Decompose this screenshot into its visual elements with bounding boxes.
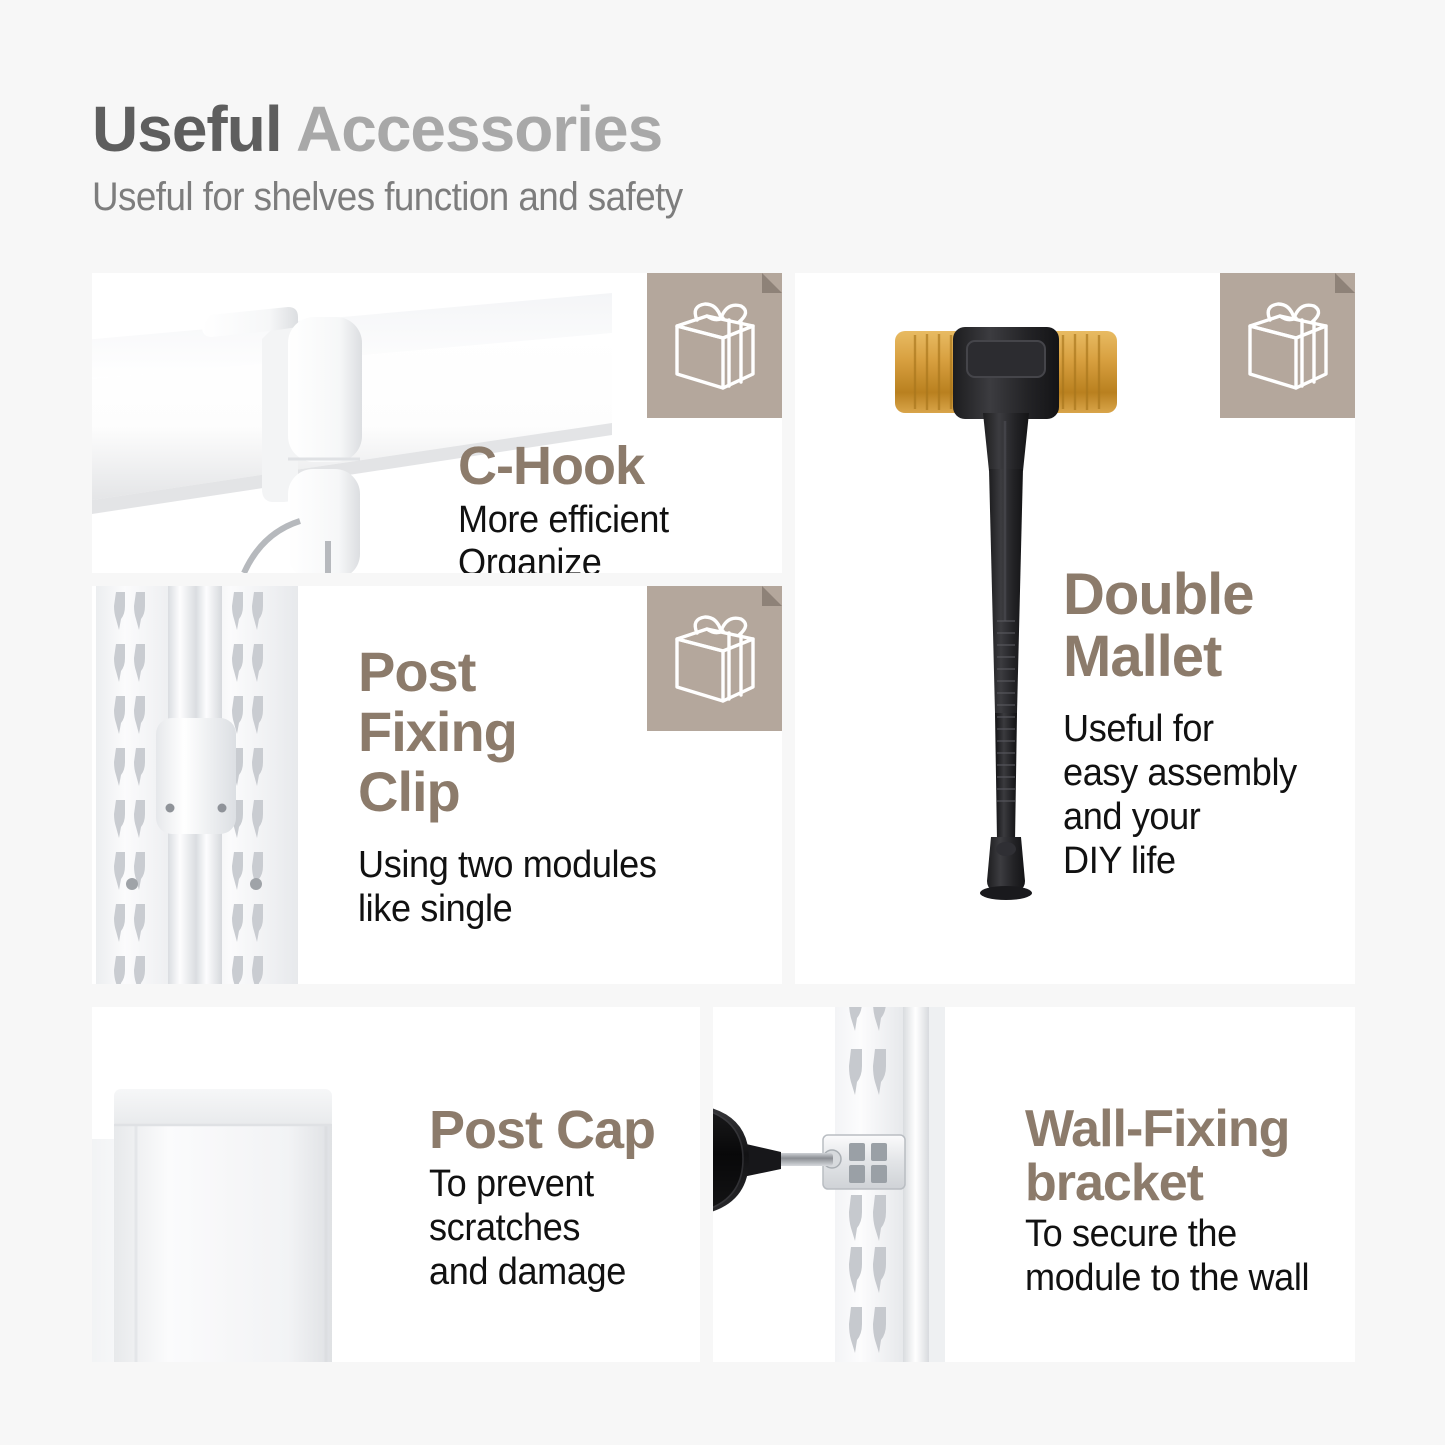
card-double-mallet-description-line-4: DIY life bbox=[1063, 840, 1176, 883]
page-title: Useful Accessories bbox=[92, 96, 1362, 163]
card-wall-fixing-bracket-heading-line-1: Wall-Fixing bbox=[1025, 1103, 1289, 1155]
card-post-fixing-clip-description-line-1: Using two modules bbox=[358, 844, 657, 887]
card-post-fixing-clip-heading-line-2: Fixing bbox=[358, 704, 517, 760]
badge-corner-fold bbox=[762, 586, 782, 606]
gift-badge bbox=[1220, 273, 1355, 418]
gift-box-icon bbox=[667, 607, 763, 711]
page-subtitle: Useful for shelves function and safety bbox=[92, 175, 1260, 220]
card-post-fixing-clip-heading-line-1: Post bbox=[358, 644, 475, 700]
gift-badge bbox=[647, 586, 782, 731]
card-double-mallet-heading-line-1: Double bbox=[1063, 566, 1254, 624]
card-post-fixing-clip[interactable]: Post Fixing Clip Using two modules like … bbox=[92, 586, 782, 984]
card-post-cap-description-line-3: and damage bbox=[429, 1251, 626, 1294]
card-wall-fixing-bracket-description-line-1: To secure the bbox=[1025, 1213, 1237, 1256]
badge-corner-fold bbox=[762, 273, 782, 293]
card-post-cap-description-line-1: To prevent bbox=[429, 1163, 594, 1206]
card-double-mallet-heading-line-2: Mallet bbox=[1063, 628, 1221, 686]
card-post-cap[interactable]: Post Cap To prevent scratches and damage bbox=[92, 1007, 700, 1362]
card-double-mallet-description-line-2: easy assembly bbox=[1063, 752, 1297, 795]
card-double-mallet-description-line-3: and your bbox=[1063, 796, 1200, 839]
card-c-hook[interactable]: C-Hook More efficient Organize bbox=[92, 273, 782, 573]
post-cap-product-image bbox=[92, 1067, 412, 1362]
gift-badge bbox=[647, 273, 782, 418]
card-post-fixing-clip-description-line-2: like single bbox=[358, 888, 512, 931]
post-fixing-clip-product-image bbox=[92, 586, 302, 984]
card-post-fixing-clip-heading-line-3: Clip bbox=[358, 764, 460, 820]
card-wall-fixing-bracket[interactable]: Wall-Fixing bracket To secure the module… bbox=[713, 1007, 1355, 1362]
gift-box-icon bbox=[667, 294, 763, 398]
card-post-cap-heading: Post Cap bbox=[429, 1103, 655, 1157]
badge-corner-fold bbox=[1335, 273, 1355, 293]
card-c-hook-description: More efficient Organize bbox=[458, 499, 766, 573]
gift-box-icon bbox=[1240, 294, 1336, 398]
page-title-strong: Useful bbox=[92, 93, 282, 165]
card-wall-fixing-bracket-description-line-2: module to the wall bbox=[1025, 1257, 1309, 1300]
card-double-mallet[interactable]: Double Mallet Useful for easy assembly a… bbox=[795, 273, 1355, 984]
card-wall-fixing-bracket-heading-line-2: bracket bbox=[1025, 1157, 1203, 1209]
wall-fixing-bracket-product-image bbox=[713, 1007, 1013, 1362]
card-c-hook-heading: C-Hook bbox=[458, 439, 644, 493]
page-title-light: Accessories bbox=[296, 93, 662, 165]
page-header: Useful Accessories Useful for shelves fu… bbox=[92, 96, 1362, 220]
card-double-mallet-description-line-1: Useful for bbox=[1063, 708, 1214, 751]
card-post-cap-description-line-2: scratches bbox=[429, 1207, 580, 1250]
